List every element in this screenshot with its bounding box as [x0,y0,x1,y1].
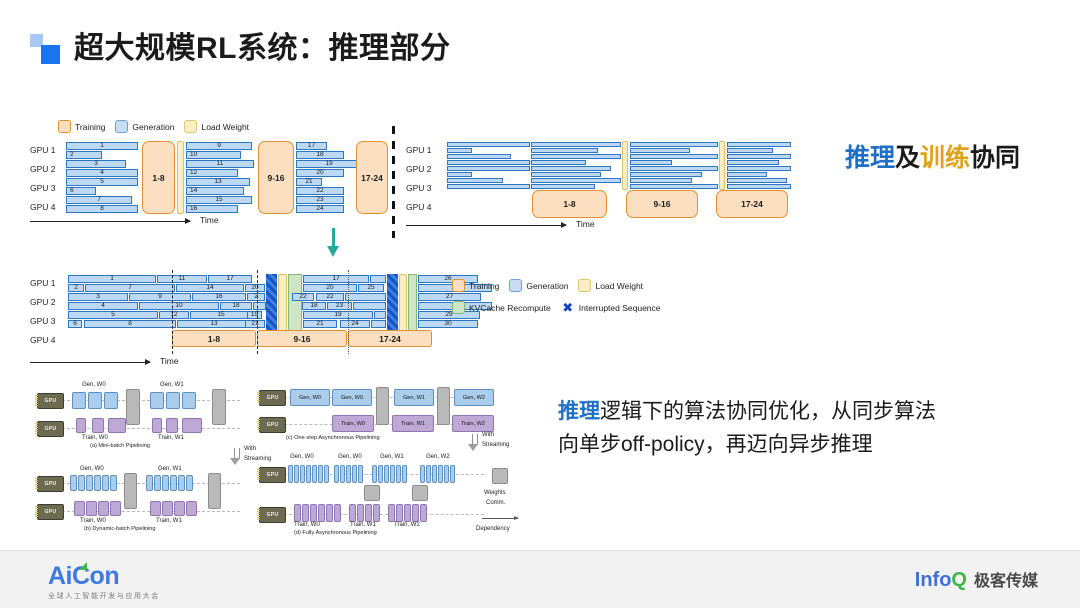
gen-bar [727,142,791,147]
gpu-label-4: GPU 4 [30,202,56,212]
subfig-c-train-1: Train, W1 [401,421,425,427]
gen-bar: 2 [247,293,265,301]
dependency-arrow-icon [482,518,518,519]
gen-bar: 5 [68,311,158,319]
time-axis [406,225,566,226]
title-square-icon [30,34,60,64]
gen-bar [370,275,386,283]
subfigure-c: GPU GPU Gen, W0 Gen, W0 Gen, W1 Gen, W2 … [254,380,484,444]
kvcache-swatch-icon [452,301,465,314]
gen-bar [531,160,586,165]
page-title: 超大规模RL系统：推理部分 [30,34,451,64]
gen-bar: 4 [66,169,138,177]
gpu-label-2: GPU 2 [406,164,432,174]
callout-1-part-1: 推理 [845,144,895,172]
gen-bar [447,184,530,189]
legend-label: Interrupted Sequence [579,303,661,313]
training-block: 1-8 [142,141,175,214]
with-streaming-arrow-icon [232,448,240,466]
gen-bar [447,178,503,183]
gen-bar: 24 [296,205,344,213]
gen-bar [447,160,530,165]
gen-bar [630,160,672,165]
diagram-top-right: GPU 1 GPU 2 GPU 3 GPU 4 [406,140,806,235]
subfig-c-gen-1: Gen, W0 [341,395,363,401]
gen-bar [531,142,621,147]
slide-root: 超大规模RL系统：推理部分 Training Generation Load W… [0,0,1080,608]
diagram-top-left: Training Generation Load Weight GPU 1 GP… [30,120,390,230]
time-axis-label: Time [200,215,219,225]
gen-bar: 12 [159,311,189,319]
subfigure-d: GPU GPU Gen, W0 Gen, W0 Gen, W1 Gen, W2 [254,452,484,536]
legend-middle: Training Generation Load Weight KVCache … [452,279,702,314]
aicon-subtitle: 全球人工智能开发与应用大会 [48,591,160,601]
gpu-chip-icon: GPU [259,507,286,523]
callout-2-line-2: 向单步off-policy，再迈向异步推理 [558,433,873,456]
gpu-chip-icon: GPU [259,467,286,483]
load-weight-strip [278,274,287,336]
subfig-a-gen-label-1: Gen, W1 [160,382,184,388]
infoq-logo: Info Q 极客传媒 [915,570,1038,590]
gpu-chip-icon: GPU [37,421,64,437]
gen-bar: 9 [186,142,252,150]
gen-bar: 14 [176,284,244,292]
gen-bar: 10 [186,151,241,159]
gen-bar [531,178,621,183]
gen-bar: 7 [66,196,132,204]
gpu-label-4: GPU 4 [406,202,432,212]
gen-bar [531,166,611,171]
gen-bar: 15 [186,196,252,204]
subfig-a-train-label-1: Train, W1 [158,435,184,441]
gen-bar: 19 [296,160,362,168]
gen-bar [630,166,718,171]
gen-bar: 14 [186,187,244,195]
callout-text-2: 推理逻辑下的算法协同优化，从同步算法 向单步off-policy，再迈向异步推理 [558,396,1028,461]
gpu-label-1: GPU 1 [406,145,432,155]
flow-down-arrow-icon [327,228,340,258]
subfig-c-caption: (c) One-step Asynchronous Pipelining [286,435,380,441]
gpu-label-1: GPU 1 [30,278,56,288]
gen-bar: 19 [303,311,373,319]
gen-bar [727,160,779,165]
gen-bar: 18 [296,151,344,159]
training-block: 1-8 [172,330,256,347]
gen-bar: 11 [157,275,207,283]
gen-bar [447,172,472,177]
gen-bar [531,148,598,153]
gpu-label-2: GPU 2 [30,164,56,174]
phase-divider [348,270,349,354]
gpu-chip-icon: GPU [37,393,64,409]
subfig-c-gen-3: Gen, W2 [463,395,485,401]
gen-bar [630,172,702,177]
subfig-c-train-2: Train, W2 [461,421,485,427]
gen-bar: 17 [296,142,327,150]
gen-bar: 7 [85,284,175,292]
gen-bar: 21 [245,320,265,328]
legend-item-training: Training [58,120,105,133]
gen-bar: 17 [208,275,252,283]
generation-swatch-icon [115,120,128,133]
gen-bar: 6 [66,187,96,195]
subfig-d-train-label-1: Train, W1 [350,522,376,528]
subfig-b-gen-label-0: Gen, W0 [80,466,104,472]
infoq-info-text: Info [915,570,952,590]
training-block: 17-24 [356,141,388,214]
gen-bar: 22 [316,293,344,301]
infoq-q-text: Q [951,570,967,590]
subfig-a-train-label-0: Train, W0 [82,435,108,441]
legend-label: Training [75,122,105,132]
legend-label: Generation [132,122,174,132]
time-axis [30,362,150,363]
gpu-label-2: GPU 2 [30,297,56,307]
legend-label: Load Weight [595,281,643,291]
training-swatch-icon [58,120,71,133]
dependency-label: Dependency [476,526,510,532]
subfig-b-caption: (b) Dynamic-batch Pipelining [84,526,156,532]
streaming-label: Streaming [482,442,509,448]
subfig-d-caption: (d) Fully Asynchronous Pipelining [294,530,377,536]
gen-bar: 11 [186,160,254,168]
gen-bar [447,142,530,147]
load-weight-strip [177,141,184,214]
gen-bar [727,178,787,183]
gen-bar: 22 [292,293,314,301]
phase-divider [257,270,258,354]
gen-bar: 24 [340,320,370,328]
time-axis [30,221,190,222]
gen-bar: 15 [190,311,252,319]
callout-2-highlight: 推理 [558,400,600,423]
gen-bar [727,154,791,159]
legend-label: Generation [526,281,568,291]
subfigure-a: GPU GPU Gen, W0 Gen, W1 Train, W0 Train,… [32,380,242,448]
callout-1-part-3: 训练 [920,144,970,172]
time-axis-label: Time [576,219,595,229]
gpu-chip-icon: GPU [259,390,286,406]
training-block: 9-16 [257,330,347,347]
subfig-c-gen-2: Gen, W1 [403,395,425,401]
gen-bar: 6 [68,320,82,328]
gen-bar: 22 [296,187,344,195]
gpu-label-3: GPU 3 [406,183,432,193]
callout-2-line-1: 逻辑下的算法协同优化，从同步算法 [600,400,936,423]
gen-bar [531,172,601,177]
subfig-d-gen-label-0: Gen, W0 [290,454,314,460]
with-streaming-arrow-icon [470,434,478,452]
load-weight-strip [622,141,628,190]
gen-bar: 18 [220,302,252,310]
gen-bar [345,293,386,301]
gen-bar: 30 [418,320,478,328]
load-weight-strip [719,141,725,190]
gen-bar: 21 [303,320,337,328]
legend-label: Load Weight [201,122,249,132]
gen-bar: 12 [186,169,238,177]
panel-separator [392,126,395,238]
gen-bar: 25 [358,284,384,292]
kvcache-recompute-band [288,274,302,336]
generation-swatch-icon [509,279,522,292]
gen-bar: 13 [177,320,251,328]
gen-bar: 21 [296,178,322,186]
x-mark-icon: ✖ [561,301,575,314]
gpu-chip-icon: GPU [37,476,64,492]
gen-bar: 13 [186,178,250,186]
legend-item-generation: Generation [115,120,174,133]
legend-label: Training [469,281,499,291]
gen-bar: 23 [296,196,344,204]
load-weight-swatch-icon [578,279,591,292]
subfig-b-gen-label-1: Gen, W1 [158,466,182,472]
gen-bar [727,172,767,177]
infoq-cn-text: 极客传媒 [974,574,1038,590]
subfig-d-gen-label-2: Gen, W1 [380,454,404,460]
legend-item-load-weight: Load Weight [184,120,249,133]
gen-bar [353,302,386,310]
footer-divider [0,550,1080,551]
subfig-a-caption: (a) Mini-batch Pipelining [90,443,150,449]
subfig-d-gen-label-1: Gen, W0 [338,454,362,460]
time-axis-label: Time [160,356,179,366]
callout-1-part-4: 协同 [970,144,1020,172]
training-block: 17-24 [716,190,788,218]
subfig-d-gen-label-3: Gen, W2 [426,454,450,460]
training-block: 1-8 [532,190,607,218]
legend-item-training: Training [452,279,499,292]
subfig-d-train-label-0: Train, W0 [294,522,320,528]
gen-bar: 18 [302,302,326,310]
legend-item-kvcache: KVCache Recompute [452,301,551,314]
subfig-b-train-label-0: Train, W0 [80,518,106,524]
training-swatch-icon [452,279,465,292]
callout-text-1: 推理及训练协同 [845,146,1020,171]
gen-bar: 4 [68,302,138,310]
training-block: 17-24 [348,330,432,347]
gen-bar [630,142,718,147]
gpu-label-3: GPU 3 [30,316,56,326]
gen-bar: 19 [247,311,262,319]
gen-bar: 20 [296,169,344,177]
load-weight-strip [399,274,407,336]
subfig-c-train-0: Train, W0 [341,421,365,427]
legend-item-interrupted: ✖ Interrupted Sequence [561,301,661,314]
aicon-wordmark: AiCon [48,564,160,589]
gen-bar: 20 [245,284,265,292]
footer-bar: AiCon 全球人工智能开发与应用大会 Info Q 极客传媒 [0,550,1080,608]
gpu-chip-icon: GPU [259,417,286,433]
with-label: With [482,432,494,438]
aicon-logo: AiCon 全球人工智能开发与应用大会 [48,564,160,601]
gen-bar: 16 [192,293,246,301]
legend-top: Training Generation Load Weight [58,120,259,133]
gen-bar [727,184,791,189]
page-title-text: 超大规模RL系统：推理部分 [74,34,451,64]
gpu-label-1: GPU 1 [30,145,56,155]
weights-comm-swatch-icon [492,468,508,484]
callout-1-part-2: 及 [895,144,920,172]
gen-bar [727,166,791,171]
gen-bar [630,148,690,153]
gen-bar: 3 [66,160,126,168]
gen-bar [531,154,621,159]
gen-bar: 17 [303,275,369,283]
gen-bar: 2 [66,151,102,159]
subfigure-b: GPU GPU Gen, W0 Gen, W1 [32,466,242,534]
kvcache-recompute-band [408,274,417,336]
legend-item-load-weight: Load Weight [578,279,643,292]
gen-bar [447,166,530,171]
gen-bar [727,148,773,153]
gen-bar: 1 [68,275,156,283]
gen-bar: 1 [66,142,138,150]
gpu-label-4: GPU 4 [30,335,56,345]
gen-bar [630,184,718,189]
interrupted-sequence-band [387,274,398,336]
weights-label: Weights [484,490,506,496]
training-block: 9-16 [626,190,698,218]
diagram-middle: GPU 1 GPU 2 GPU 3 GPU 4 1 2 3 4 5 6 7 8 … [30,270,450,370]
gen-bar [253,302,266,310]
legend-label: KVCache Recompute [469,303,551,313]
training-block: 9-16 [258,141,294,214]
load-weight-swatch-icon [184,120,197,133]
gpu-chip-icon: GPU [37,504,64,520]
gen-bar [447,154,511,159]
gen-bar: 8 [66,205,138,213]
gen-bar [447,148,472,153]
gen-bar [374,311,386,319]
phase-divider [172,270,173,354]
gen-bar: 5 [66,178,138,186]
gen-bar [630,154,718,159]
gen-bar [371,320,386,328]
subfig-d-train-label-2: Train, W2 [394,522,420,528]
gen-bar: 10 [139,302,219,310]
gen-bar: 2 [68,284,84,292]
subfig-b-train-label-1: Train, W1 [156,518,182,524]
subfig-a-gen-label-0: Gen, W0 [82,382,106,388]
gen-bar: 8 [84,320,176,328]
comm-label: Comm. [486,500,505,506]
subfig-c-gen-0: Gen, W0 [299,395,321,401]
interrupted-sequence-band [266,274,277,336]
gpu-label-3: GPU 3 [30,183,56,193]
legend-item-generation: Generation [509,279,568,292]
paper-figure-panel: GPU GPU Gen, W0 Gen, W1 Train, W0 Train,… [32,380,532,548]
gen-bar: 3 [68,293,128,301]
gen-bar [531,184,595,189]
gen-bar: 16 [186,205,238,213]
gen-bar: 9 [129,293,191,301]
gen-bar [630,178,692,183]
